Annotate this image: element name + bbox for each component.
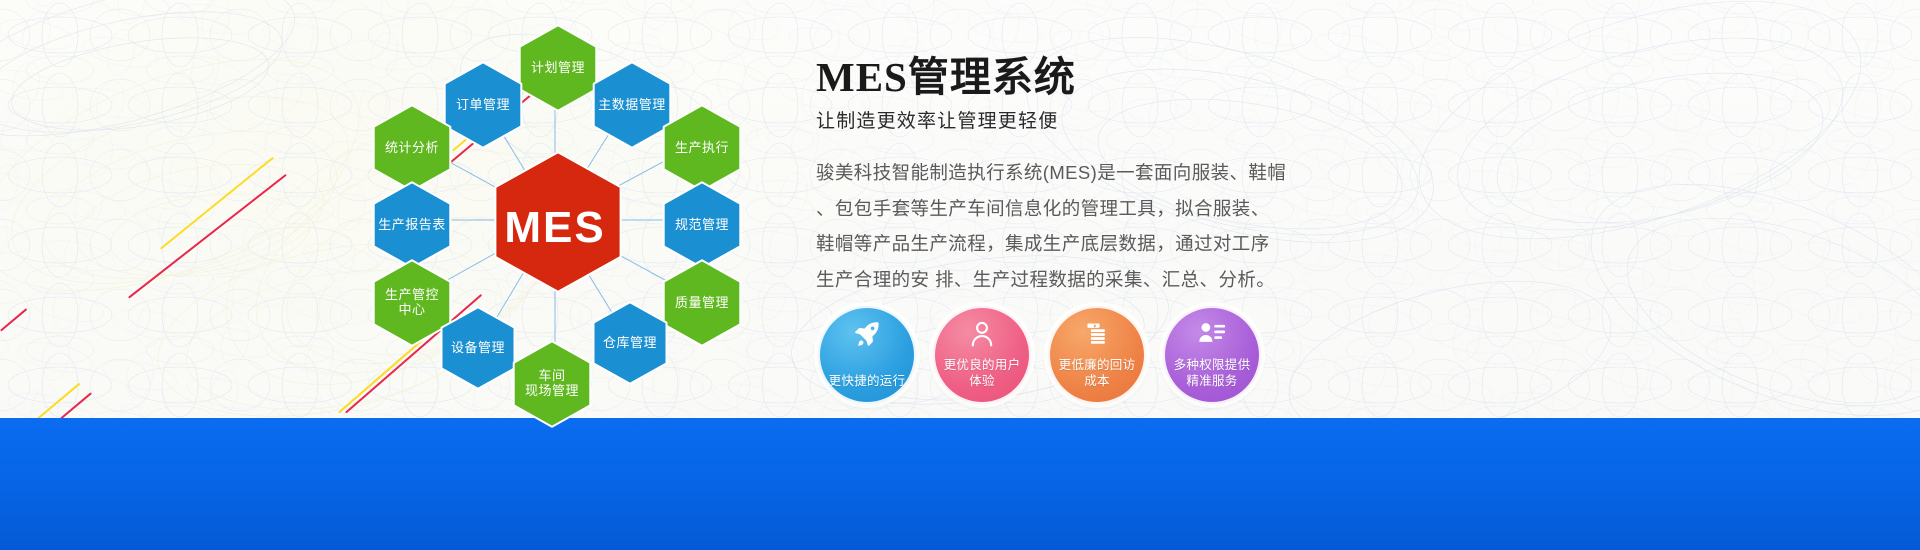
description-paragraph: 骏美科技智能制造执行系统(MES)是一套面向服装、鞋帽、包包手套等生产车间信息化… [816, 155, 1286, 297]
hexagon-specification-management[interactable] [664, 182, 741, 267]
rocket-icon [852, 319, 882, 349]
hexagon-production-report[interactable] [374, 182, 451, 267]
hexagon-order-management[interactable] [445, 62, 522, 147]
hexagon-equipment-management[interactable] [442, 307, 515, 388]
hexagon-statistical-analysis[interactable] [374, 105, 451, 190]
badge-label-2: 更低廉的回访 成本 [1059, 357, 1136, 389]
paragraph-line-0: 骏美科技智能制造执行系统(MES)是一套面向服装、鞋帽 [816, 155, 1286, 191]
svg-text:¥: ¥ [1094, 324, 1097, 330]
badge-label-1: 更优良的用户 体验 [944, 357, 1021, 389]
badge-1[interactable]: 更优良的用户 体验 [933, 306, 1031, 404]
mes-hexagon-diagram: MES 计划管理订单管理主数据管理统计分析生产执行生产报告表规范管理生产管控 中… [330, 10, 780, 430]
feature-badges: 更快捷的运行更优良的用户 体验¥更低廉的回访 成本多种权限提供 精准服务 [818, 306, 1261, 404]
badge-2[interactable]: ¥更低廉的回访 成本 [1048, 306, 1146, 404]
badge-0[interactable]: 更快捷的运行 [818, 306, 916, 404]
user-icon [967, 319, 997, 349]
hexagon-center-mes[interactable] [495, 152, 620, 292]
hexagon-workshop-site-management[interactable] [514, 341, 591, 426]
hexagon-quality-management[interactable] [664, 260, 741, 345]
content-text-block: MES管理系统 让制造更效率让管理更轻便 骏美科技智能制造执行系统(MES)是一… [816, 54, 1436, 297]
paragraph-line-2: 鞋帽等产品生产流程，集成生产底层数据，通过对工序 [816, 226, 1286, 262]
badge-label-0: 更快捷的运行 [829, 373, 906, 389]
hexagon-production-control-center[interactable] [374, 260, 451, 345]
paragraph-line-1: 、包包手套等生产车间信息化的管理工具，拟合服装、 [816, 191, 1286, 227]
money-icon: ¥ [1082, 319, 1112, 349]
hexagon-warehouse-management[interactable] [594, 302, 667, 383]
hexagon-production-execution[interactable] [664, 105, 741, 190]
badge-label-3: 多种权限提供 精准服务 [1174, 357, 1251, 389]
badge-3[interactable]: 多种权限提供 精准服务 [1163, 306, 1261, 404]
page-subtitle: 让制造更效率让管理更轻便 [816, 106, 1436, 133]
bottom-blue-band [0, 418, 1920, 550]
mes-promo-banner: MES 计划管理订单管理主数据管理统计分析生产执行生产报告表规范管理生产管控 中… [0, 0, 1920, 550]
paragraph-line-3: 生产合理的安 排、生产过程数据的采集、汇总、分析。 [816, 262, 1286, 298]
hexagon-master-data-management[interactable] [594, 62, 671, 147]
page-title: MES管理系统 [816, 54, 1436, 101]
hexagon-plan-management[interactable] [520, 25, 597, 110]
user-list-icon [1197, 319, 1227, 349]
